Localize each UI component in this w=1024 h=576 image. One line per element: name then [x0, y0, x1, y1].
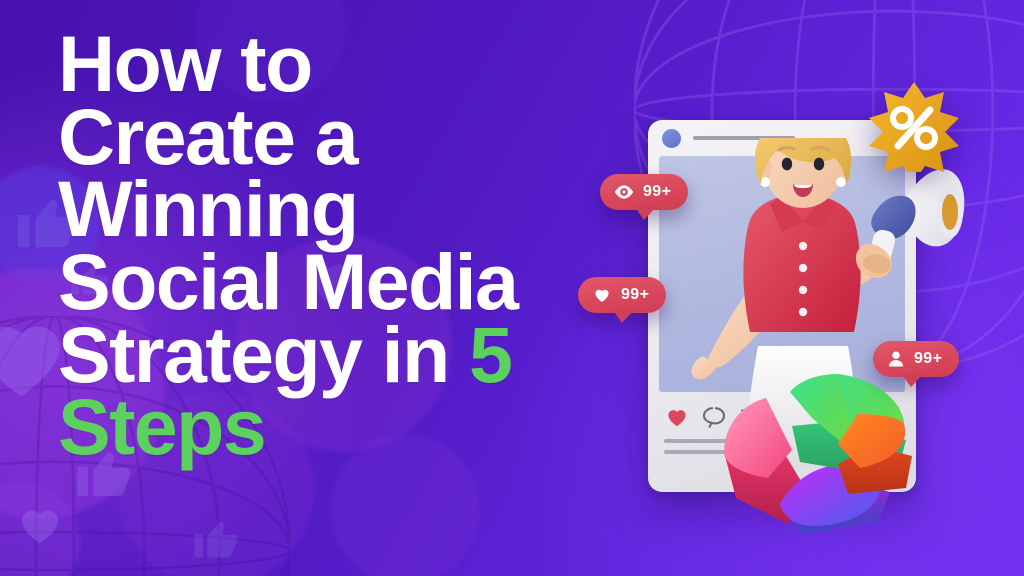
3d-pie-chart — [718, 368, 930, 546]
heart-icon — [14, 498, 66, 550]
social-media-banner: How toCreate aWinningSocial MediaStrateg… — [0, 0, 1024, 576]
badge-tail — [901, 373, 924, 387]
heart-icon — [592, 286, 612, 304]
likes-count: 99+ — [621, 286, 649, 304]
avatar[interactable] — [662, 129, 681, 148]
views-count: 99+ — [643, 183, 671, 201]
followers-badge: 99+ — [873, 341, 959, 377]
views-badge: 99+ — [600, 174, 688, 210]
eye-icon — [614, 185, 634, 199]
page-title: How toCreate aWinningSocial MediaStrateg… — [58, 28, 598, 464]
background-blob — [0, 482, 80, 576]
thumbs-up-icon — [190, 512, 242, 564]
person-icon — [887, 350, 905, 368]
badge-tail — [612, 309, 635, 323]
heart-icon[interactable] — [664, 405, 690, 429]
headline-line-6: Steps — [58, 382, 265, 471]
headline-accent-number: 5 — [469, 310, 511, 399]
followers-count: 99+ — [914, 350, 942, 368]
percent-starburst-icon — [862, 80, 966, 172]
likes-badge: 99+ — [578, 277, 666, 313]
badge-tail — [634, 206, 657, 220]
megaphone-icon — [838, 160, 970, 292]
